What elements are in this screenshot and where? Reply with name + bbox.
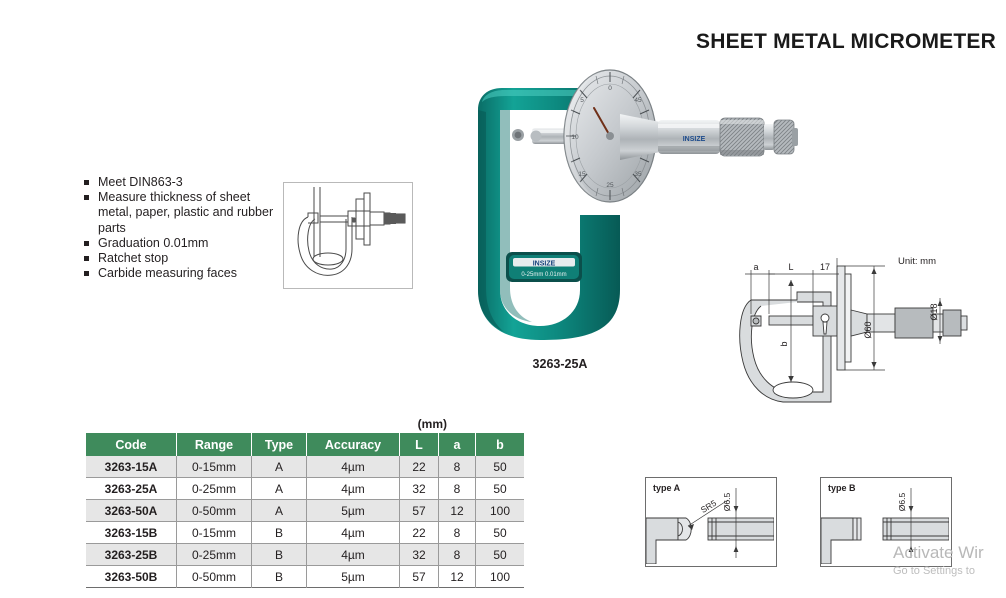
column-header-b: b [476, 433, 525, 456]
cell-b: 50 [476, 522, 525, 544]
cell-l: 57 [400, 566, 439, 588]
cell-accuracy: 5µm [307, 566, 400, 588]
cell-code: 3263-15A [86, 456, 177, 478]
column-header-range: Range [177, 433, 252, 456]
svg-text:15: 15 [578, 171, 586, 178]
list-item: Measure thickness of sheet metal, paper,… [84, 190, 274, 236]
cell-accuracy: 5µm [307, 500, 400, 522]
cell-type: A [252, 456, 307, 478]
column-header-accuracy: Accuracy [307, 433, 400, 456]
spec-table: Code Range Type Accuracy L a b 3263-15A … [86, 433, 524, 588]
cell-accuracy: 4µm [307, 478, 400, 500]
svg-text:35: 35 [634, 171, 642, 178]
svg-text:0: 0 [608, 85, 612, 92]
cell-b: 100 [476, 566, 525, 588]
cell-l: 22 [400, 456, 439, 478]
cell-b: 100 [476, 500, 525, 522]
type-b-figure: type B Ø6.5 [820, 477, 952, 567]
svg-text:45: 45 [634, 97, 642, 104]
cell-a: 8 [439, 478, 476, 500]
feature-text: Meet DIN863-3 [98, 175, 183, 189]
cell-range: 0-15mm [177, 522, 252, 544]
cell-l: 32 [400, 544, 439, 566]
bullet-icon [84, 180, 89, 185]
bullet-icon [84, 256, 89, 261]
svg-text:INSIZE: INSIZE [683, 136, 706, 143]
cell-a: 12 [439, 500, 476, 522]
svg-text:0-25mm 0.01mm: 0-25mm 0.01mm [521, 272, 566, 278]
type-a-figure: type A SR5 Ø6.5 [645, 477, 777, 567]
cell-range: 0-15mm [177, 456, 252, 478]
type-a-label: type A [653, 483, 680, 493]
type-b-label: type B [828, 483, 856, 493]
column-header-code: Code [86, 433, 177, 456]
bullet-icon [84, 271, 89, 276]
product-caption: 3263-25A [470, 357, 650, 371]
cell-type: A [252, 478, 307, 500]
dim-label-dia60: Ø60 [863, 321, 873, 338]
spec-table-container: Code Range Type Accuracy L a b 3263-15A … [86, 433, 524, 588]
list-item: Meet DIN863-3 [84, 175, 274, 190]
cell-accuracy: 4µm [307, 544, 400, 566]
cell-accuracy: 4µm [307, 522, 400, 544]
cell-l: 32 [400, 478, 439, 500]
bullet-icon [84, 241, 89, 246]
table-unit-label: (mm) [418, 417, 447, 431]
dim-label-a: a [753, 262, 758, 272]
list-item: Graduation 0.01mm [84, 236, 274, 251]
dim-label-b: b [779, 341, 789, 346]
dim-label-17: 17 [820, 262, 830, 272]
cell-b: 50 [476, 456, 525, 478]
cell-code: 3263-25A [86, 478, 177, 500]
cell-accuracy: 4µm [307, 456, 400, 478]
cell-a: 8 [439, 522, 476, 544]
table-row: 3263-15A 0-15mm A 4µm 22 8 50 [86, 456, 524, 478]
feature-text: Graduation 0.01mm [98, 236, 208, 250]
cell-type: A [252, 500, 307, 522]
cell-type: B [252, 544, 307, 566]
cell-code: 3263-25B [86, 544, 177, 566]
bullet-icon [84, 195, 89, 200]
cell-type: B [252, 522, 307, 544]
application-illustration [283, 182, 413, 289]
column-header-a: a [439, 433, 476, 456]
cell-range: 0-50mm [177, 500, 252, 522]
unit-note: Unit: mm [898, 256, 936, 267]
cell-l: 57 [400, 500, 439, 522]
column-header-l: L [400, 433, 439, 456]
svg-text:INSIZE: INSIZE [533, 261, 556, 268]
feature-list: Meet DIN863-3 Measure thickness of sheet… [84, 175, 274, 281]
diameter-label: Ø6.5 [722, 493, 732, 512]
cell-a: 12 [439, 566, 476, 588]
list-item: Ratchet stop [84, 251, 274, 266]
cell-range: 0-25mm [177, 544, 252, 566]
table-header-row: Code Range Type Accuracy L a b [86, 433, 524, 456]
cell-a: 8 [439, 456, 476, 478]
svg-text:25: 25 [606, 182, 614, 189]
dimension-drawing: a L 17 b Ø60 Ø18 [735, 252, 1006, 407]
svg-text:5: 5 [580, 97, 584, 104]
feature-text: Measure thickness of sheet metal, paper,… [98, 190, 273, 234]
dim-label-dia18: Ø18 [929, 303, 939, 320]
cell-code: 3263-15B [86, 522, 177, 544]
cell-code: 3263-50A [86, 500, 177, 522]
cell-l: 22 [400, 522, 439, 544]
cell-b: 50 [476, 544, 525, 566]
cell-b: 50 [476, 478, 525, 500]
svg-text:10: 10 [571, 134, 579, 141]
table-row: 3263-50B 0-50mm B 5µm 57 12 100 [86, 566, 524, 588]
cell-a: 8 [439, 544, 476, 566]
cell-code: 3263-50B [86, 566, 177, 588]
cell-range: 0-25mm [177, 478, 252, 500]
table-row: 3263-15B 0-15mm B 4µm 22 8 50 [86, 522, 524, 544]
table-row: 3263-25A 0-25mm A 4µm 32 8 50 [86, 478, 524, 500]
table-row: 3263-25B 0-25mm B 4µm 32 8 50 [86, 544, 524, 566]
column-header-type: Type [252, 433, 307, 456]
diameter-label: Ø6.5 [897, 493, 907, 512]
cell-range: 0-50mm [177, 566, 252, 588]
list-item: Carbide measuring faces [84, 266, 274, 281]
feature-text: Ratchet stop [98, 251, 168, 265]
product-nameplate: INSIZE 0-25mm 0.01mm [506, 252, 582, 282]
table-row: 3263-50A 0-50mm A 5µm 57 12 100 [86, 500, 524, 522]
cell-type: B [252, 566, 307, 588]
dim-label-L: L [788, 262, 793, 272]
feature-text: Carbide measuring faces [98, 266, 237, 280]
